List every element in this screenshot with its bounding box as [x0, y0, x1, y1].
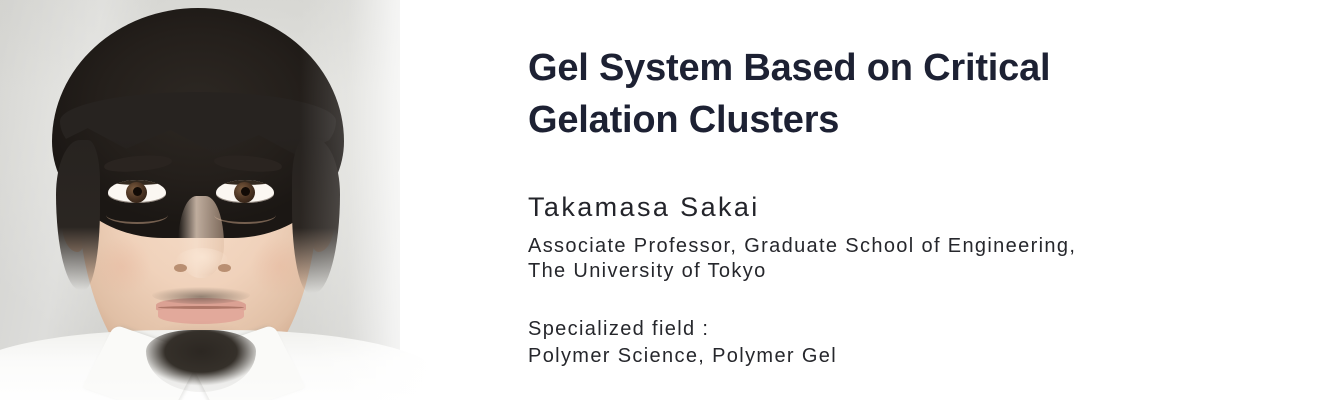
under-eye-right [214, 206, 276, 224]
eye-left [108, 180, 166, 203]
under-eye-left [106, 206, 168, 224]
nostril-right [218, 264, 231, 272]
cheek-left [92, 236, 152, 296]
presentation-slide: Gel System Based on Critical Gelation Cl… [0, 0, 1333, 400]
eye-right [216, 180, 274, 203]
presentation-title: Gel System Based on Critical Gelation Cl… [528, 42, 1288, 146]
specialized-field-block: Specialized field : Polymer Science, Pol… [528, 316, 1308, 370]
speaker-name: Takamasa Sakai [528, 191, 760, 223]
pupil-left [133, 187, 142, 196]
mouth-line [158, 306, 244, 309]
photo-bottom-fade [0, 374, 460, 400]
pupil-right [241, 187, 250, 196]
speaker-portrait-photo [0, 0, 460, 400]
text-column: Gel System Based on Critical Gelation Cl… [528, 0, 1318, 400]
speaker-affiliation: Associate Professor, Graduate School of … [528, 234, 1308, 284]
photo-right-fade [300, 0, 460, 400]
moustache [152, 286, 250, 304]
nostril-left [174, 264, 187, 272]
